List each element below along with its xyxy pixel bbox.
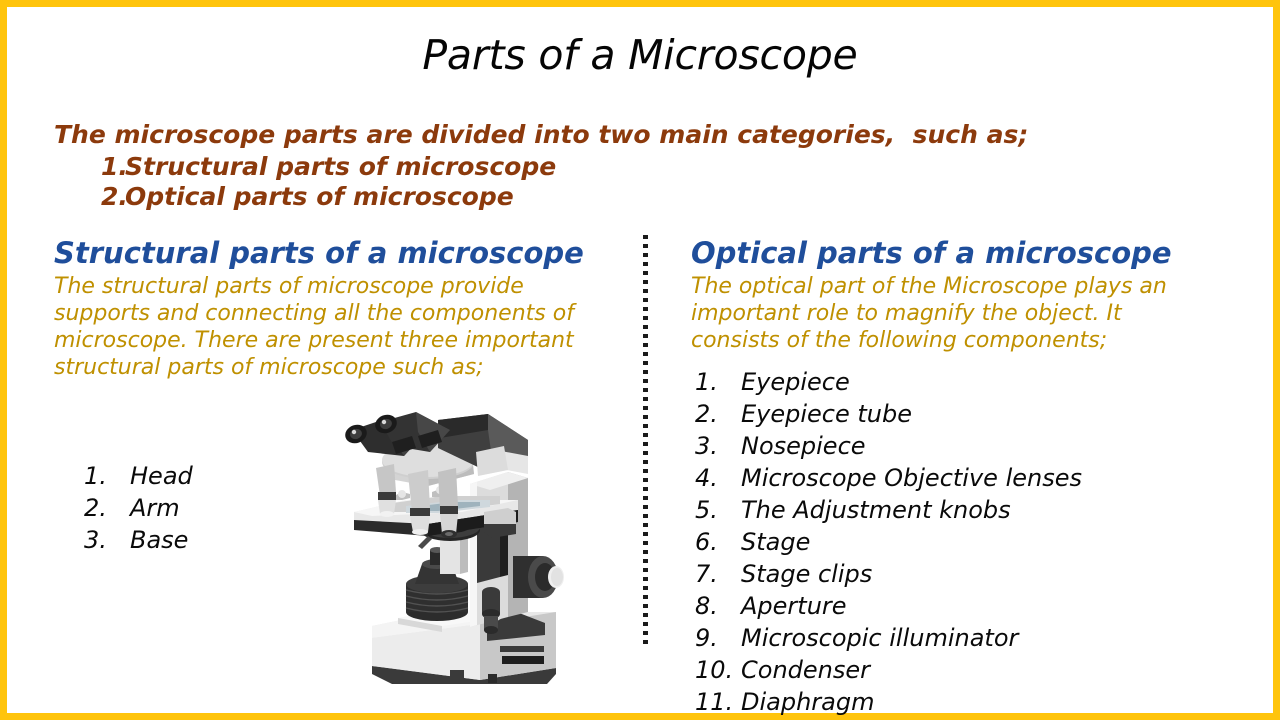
slide-canvas: Parts of a Microscope The microscope par… — [7, 7, 1273, 713]
list-number: 8. — [695, 590, 741, 622]
list-number: 7. — [695, 558, 741, 590]
list-label: Nosepiece — [741, 432, 866, 460]
list-label: Arm — [130, 494, 180, 522]
list-item: 3.Nosepiece — [695, 430, 1266, 462]
column-divider — [643, 235, 648, 649]
list-number: 2. — [695, 398, 741, 430]
list-item: 7.Stage clips — [695, 558, 1266, 590]
list-number: 1. — [695, 366, 741, 398]
microscope-base — [372, 610, 556, 684]
optical-parts-description: The optical part of the Microscope plays… — [691, 273, 1199, 354]
list-label: The Adjustment knobs — [741, 496, 1011, 524]
list-item: 6.Stage — [695, 526, 1266, 558]
list-number: 9. — [695, 622, 741, 654]
list-item: 9.Microscopic illuminator — [695, 622, 1266, 654]
optical-parts-heading: Optical parts of a microscope — [691, 235, 1266, 271]
list-label: Base — [130, 526, 188, 554]
list-number: 2. — [101, 182, 125, 212]
list-label: Stage clips — [741, 560, 872, 588]
structural-parts-list: 1.Head 2.Arm 3.Base — [84, 460, 193, 556]
list-number: 3. — [84, 524, 130, 556]
list-item: 8.Aperture — [695, 590, 1266, 622]
list-number: 10. — [695, 654, 741, 686]
page-title: Parts of a Microscope — [7, 31, 1273, 79]
list-item: 1.Head — [84, 460, 193, 492]
structural-parts-description: The structural parts of microscope provi… — [54, 273, 606, 381]
structural-parts-column: Structural parts of a microscope The str… — [54, 235, 629, 381]
structural-parts-heading: Structural parts of a microscope — [54, 235, 629, 271]
list-label: Head — [130, 462, 193, 490]
list-item: 5.The Adjustment knobs — [695, 494, 1266, 526]
list-label: Stage — [741, 528, 810, 556]
list-number: 4. — [695, 462, 741, 494]
list-number: 1. — [101, 152, 125, 182]
list-label: Microscope Objective lenses — [741, 464, 1082, 492]
intro-block: The microscope parts are divided into tw… — [54, 120, 1154, 212]
list-label: Aperture — [741, 592, 847, 620]
list-number: 2. — [84, 492, 130, 524]
list-item: 1.Eyepiece — [695, 366, 1266, 398]
list-label: Diaphragm — [741, 688, 875, 716]
microscope-illustration — [332, 412, 622, 702]
list-number: 11. — [695, 686, 741, 718]
list-label: Condenser — [741, 656, 870, 684]
intro-category-list: 1.Structural parts of microscope 2.Optic… — [54, 152, 1154, 212]
list-number: 5. — [695, 494, 741, 526]
list-label: Optical parts of microscope — [125, 182, 514, 211]
list-item: 10.Condenser — [695, 654, 1266, 686]
list-number: 3. — [695, 430, 741, 462]
list-item: 2.Eyepiece tube — [695, 398, 1266, 430]
optical-parts-list: 1.Eyepiece 2.Eyepiece tube 3.Nosepiece 4… — [695, 366, 1266, 718]
list-item: 3.Base — [84, 524, 193, 556]
list-number: 1. — [84, 460, 130, 492]
list-number: 6. — [695, 526, 741, 558]
list-label: Structural parts of microscope — [125, 152, 556, 181]
list-label: Eyepiece — [741, 368, 850, 396]
list-item: 1.Structural parts of microscope — [54, 152, 1154, 182]
list-label: Eyepiece tube — [741, 400, 912, 428]
intro-lead: The microscope parts are divided into tw… — [54, 120, 1154, 150]
list-item: 4.Microscope Objective lenses — [695, 462, 1266, 494]
list-label: Microscopic illuminator — [741, 624, 1018, 652]
optical-parts-column: Optical parts of a microscope The optica… — [691, 235, 1266, 718]
list-item: 2.Optical parts of microscope — [54, 182, 1154, 212]
list-item: 11.Diaphragm — [695, 686, 1266, 718]
list-item: 2.Arm — [84, 492, 193, 524]
